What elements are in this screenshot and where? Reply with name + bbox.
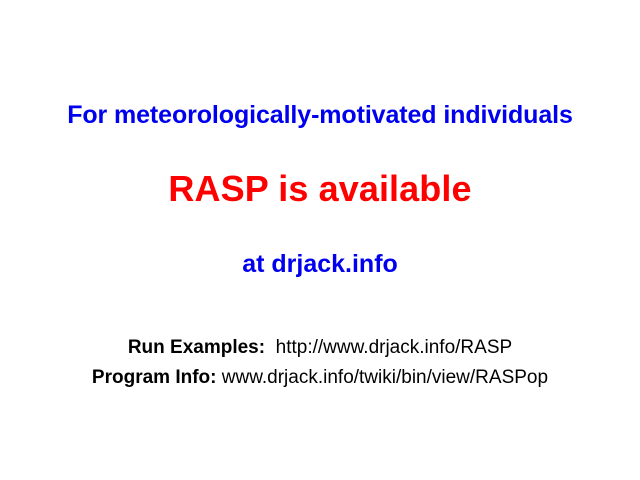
page-title: RASP is available xyxy=(0,171,640,207)
audience-headline: For meteorologically-motivated individua… xyxy=(0,103,640,128)
run-examples-label: Run Examples: xyxy=(128,337,265,358)
presentation-slide: For meteorologically-motivated individua… xyxy=(0,0,640,480)
program-info-row: Program Info: www.drjack.info/twiki/bin/… xyxy=(0,368,640,387)
program-info-label: Program Info: xyxy=(92,367,217,388)
site-subtitle: at drjack.info xyxy=(0,252,640,277)
run-examples-url[interactable]: http://www.drjack.info/RASP xyxy=(276,337,513,358)
run-examples-row: Run Examples: http://www.drjack.info/RAS… xyxy=(0,338,640,357)
program-info-url[interactable]: www.drjack.info/twiki/bin/view/RASPop xyxy=(222,367,548,388)
run-examples-gap xyxy=(265,337,276,358)
